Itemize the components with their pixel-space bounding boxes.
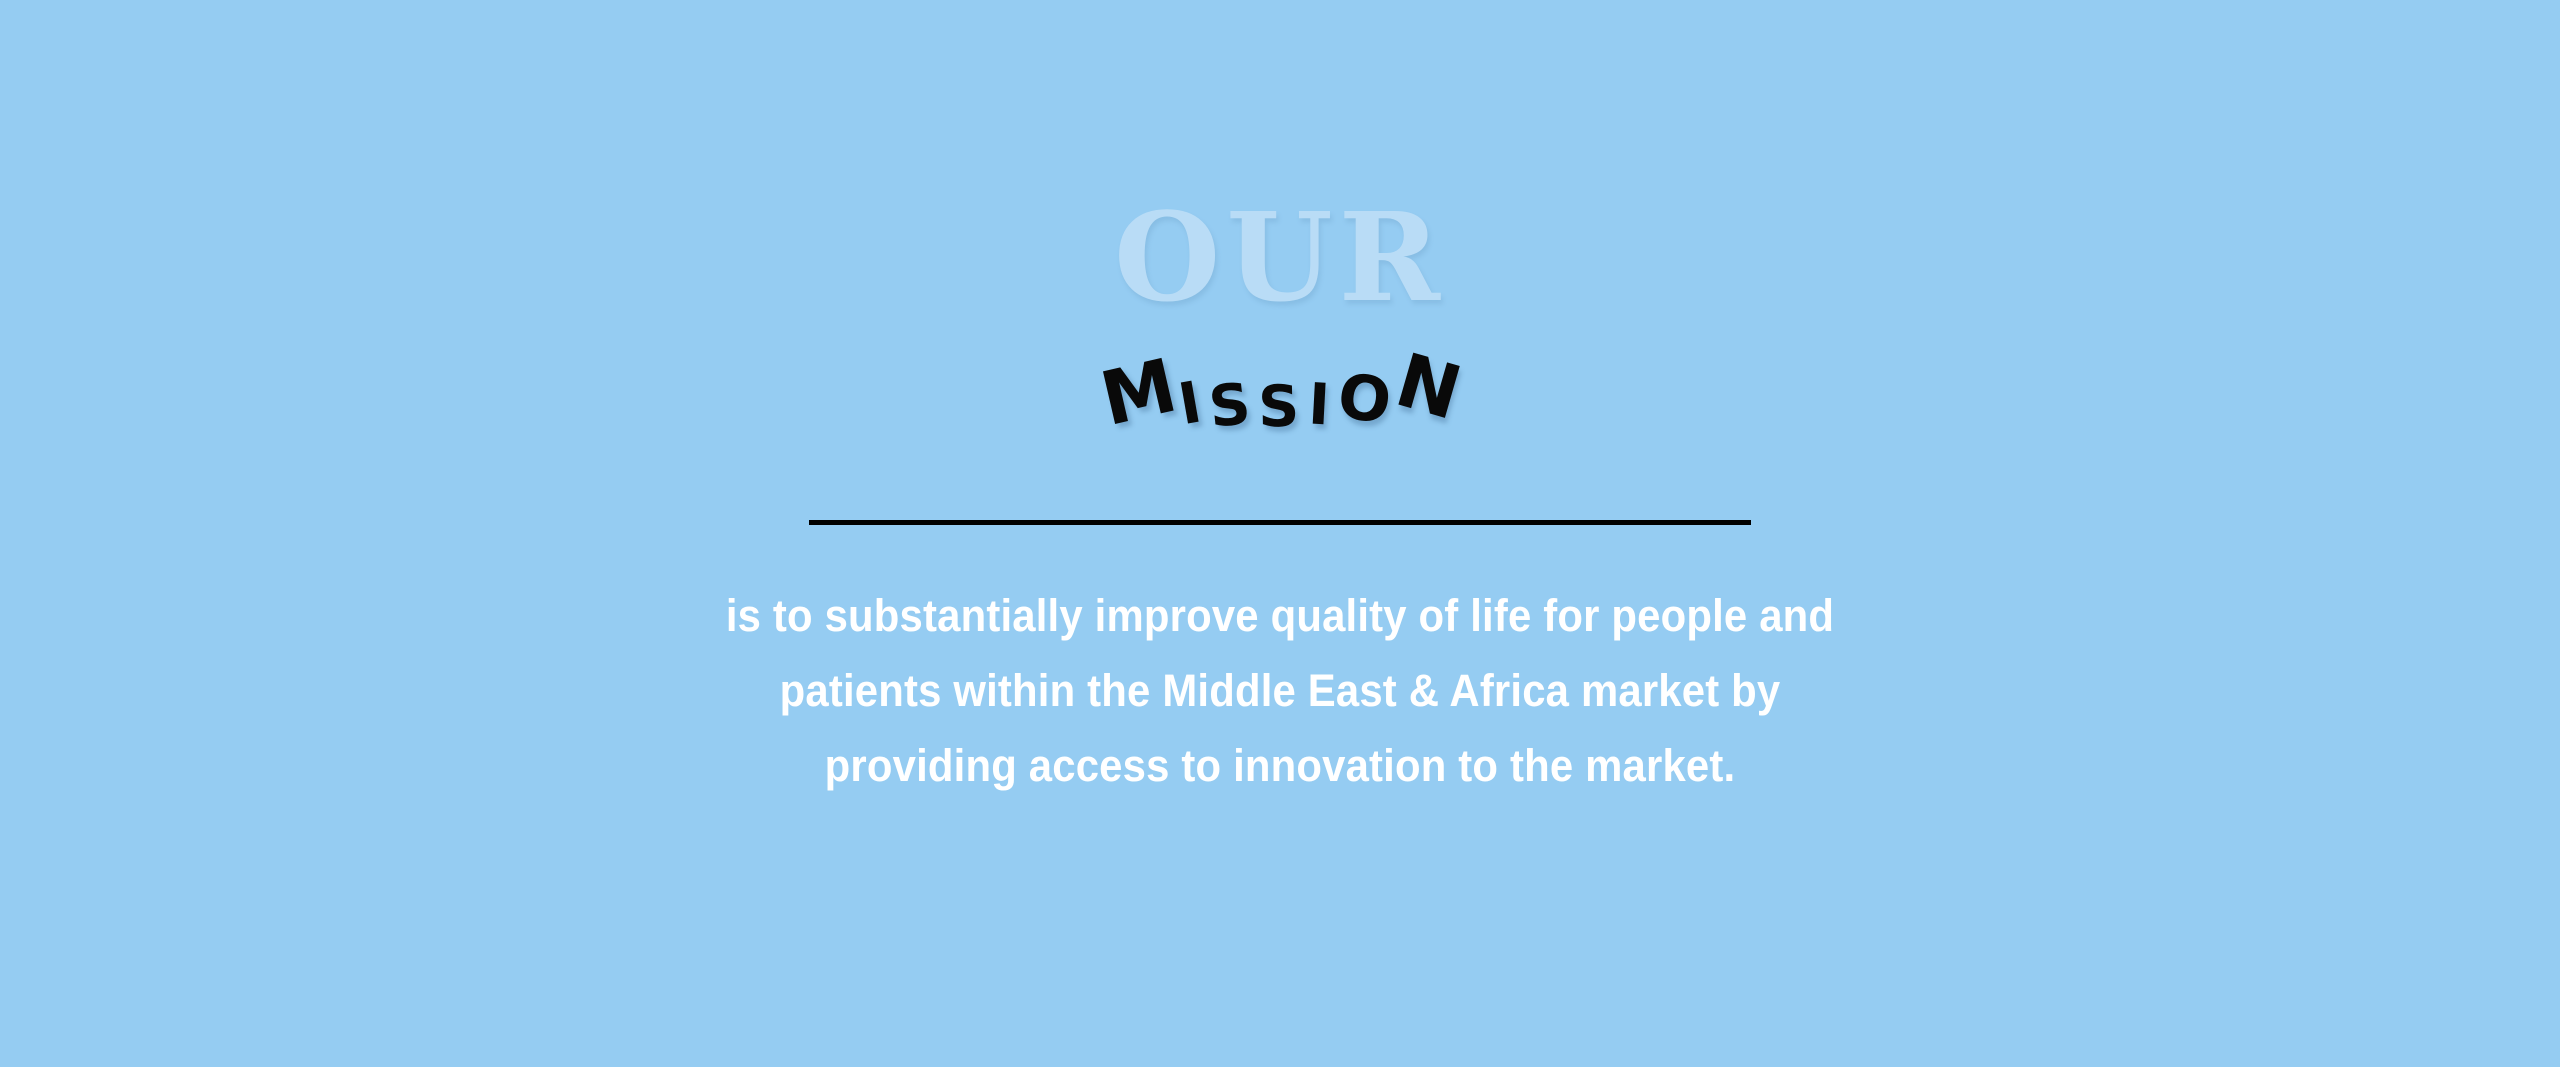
- mission-letter: S: [1258, 379, 1300, 437]
- mission-statement-line: is to substantially improve quality of l…: [555, 578, 2006, 653]
- mission-statement-line: patients within the Middle East & Africa…: [555, 653, 2006, 728]
- horizontal-rule: [809, 520, 1751, 525]
- mission-statement: is to substantially improve quality of l…: [500, 578, 2060, 803]
- mission-letter: O: [1334, 365, 1395, 434]
- page-title-our: OUR: [0, 196, 2560, 318]
- mission-statement-line: providing access to innovation to the ma…: [555, 728, 2006, 803]
- page-title-mission: MISSION: [0, 352, 2560, 482]
- mission-letter: M: [1094, 349, 1182, 438]
- arched-wordmark: MISSION: [1101, 352, 1460, 482]
- mission-letter: S: [1207, 376, 1254, 437]
- mission-letter: N: [1389, 343, 1469, 431]
- divider-container: [0, 512, 2560, 530]
- mission-letter: I: [1307, 376, 1331, 434]
- mission-slide: OUR MISSION is to substantially improve …: [0, 0, 2560, 1067]
